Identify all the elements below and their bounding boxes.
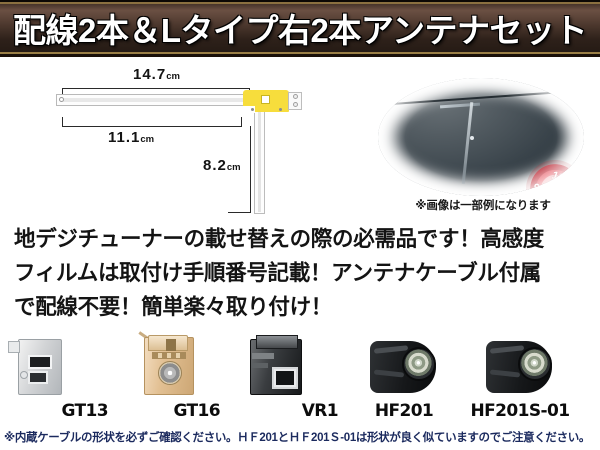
connector-hf201s01-image	[468, 333, 572, 399]
banner-bottom-rule	[0, 52, 600, 54]
page-title: 配線2本＆Lタイプ右2本アンテナセット	[0, 2, 600, 57]
description-line-1: 地デジチューナーの載せ替えの際の必需品です！高感度	[14, 222, 592, 256]
hf201-coax-face	[402, 347, 436, 381]
photo-vignette	[378, 78, 584, 196]
connector-gt16-image	[118, 333, 222, 399]
connector-hf201-image	[352, 333, 456, 399]
description-line-3: で配線不要！簡単楽々取り付け！	[14, 290, 592, 324]
dimension-unit: cm	[227, 162, 241, 173]
gt16-coax-ring	[158, 361, 182, 385]
connector-vr1: VR1	[236, 333, 340, 423]
dimension-label-total-width: 14.7cm	[133, 66, 180, 83]
dimension-label-arm-width: 11.1cm	[108, 129, 154, 146]
connector-hf201: HF201	[352, 333, 456, 423]
connector-gt13-image	[6, 333, 110, 399]
connector-gt16: GT16	[118, 333, 222, 423]
antenna-arm-eyelet	[59, 97, 64, 102]
antenna-leg-conductor	[258, 110, 261, 212]
dimension-bracket-arm	[62, 126, 242, 127]
dimension-label-leg-height: 8.2cm	[203, 157, 241, 174]
header-banner: 配線2本＆Lタイプ右2本アンテナセット	[0, 0, 600, 57]
antenna-patch-dot-left	[251, 108, 254, 111]
vr1-rib-upper	[252, 353, 274, 359]
connector-label-hf201: HF201	[352, 401, 456, 421]
connector-vr1-image	[236, 333, 340, 399]
antenna-side-tab-hole-bottom	[293, 102, 298, 107]
gt13-port-lower	[28, 371, 48, 384]
gt16-latch-tabs	[152, 352, 186, 359]
connector-label-gt13: GT13	[6, 401, 110, 421]
vr1-port-inner	[276, 371, 294, 385]
connector-type-row: GT13 GT16 VR1 HF201	[0, 333, 600, 423]
photo-caption: ※画像は一部例になります	[378, 197, 588, 213]
gt13-port-upper	[28, 355, 52, 369]
hf201s01-coax-face	[518, 347, 552, 381]
dimension-bracket-width-total	[62, 88, 250, 89]
windshield-installation-photo: 9 10	[378, 78, 584, 196]
vr1-rib-lower	[252, 363, 268, 368]
connector-label-vr1: VR1	[236, 401, 340, 421]
connector-label-hf201s01: HF201S-01	[468, 401, 572, 421]
gt13-tail	[8, 341, 20, 353]
antenna-patch-chip	[261, 95, 270, 104]
footer-disclaimer: ※内蔵ケーブルの形状を必ずご確認ください。ＨＦ201とＨＦ201Ｓ-01は形状が…	[4, 429, 598, 445]
description-line-2: フィルムは取付け手順番号記載！アンテナケーブル付属	[14, 256, 592, 290]
gt16-slot	[166, 339, 176, 351]
antenna-side-tab-hole-top	[293, 94, 298, 99]
antenna-patch-dot-right	[279, 108, 282, 111]
dimension-value: 14.7	[133, 66, 166, 83]
connector-label-gt16: GT16	[118, 401, 222, 421]
gt13-knob	[20, 371, 28, 379]
vr1-cap	[256, 335, 298, 349]
dimension-unit: cm	[166, 71, 180, 82]
dimension-unit: cm	[140, 134, 154, 145]
product-description: 地デジチューナーの載せ替えの際の必需品です！高感度 フィルムは取付け手順番号記載…	[14, 222, 592, 324]
dimension-value: 8.2	[203, 157, 227, 174]
dimension-tick-leg-bottom	[228, 212, 251, 213]
antenna-dimension-diagram: 14.7cm 11.1cm 8.2cm	[0, 60, 370, 215]
dimension-bracket-leg	[250, 126, 251, 213]
connector-gt13: GT13	[6, 333, 110, 423]
antenna-arm-conductor	[60, 98, 250, 102]
dimension-tick-arm-left	[62, 117, 63, 127]
dimension-tick-arm-right	[241, 117, 242, 127]
dimension-value: 11.1	[108, 129, 140, 146]
connector-hf201s01: HF201S-01	[468, 333, 572, 423]
